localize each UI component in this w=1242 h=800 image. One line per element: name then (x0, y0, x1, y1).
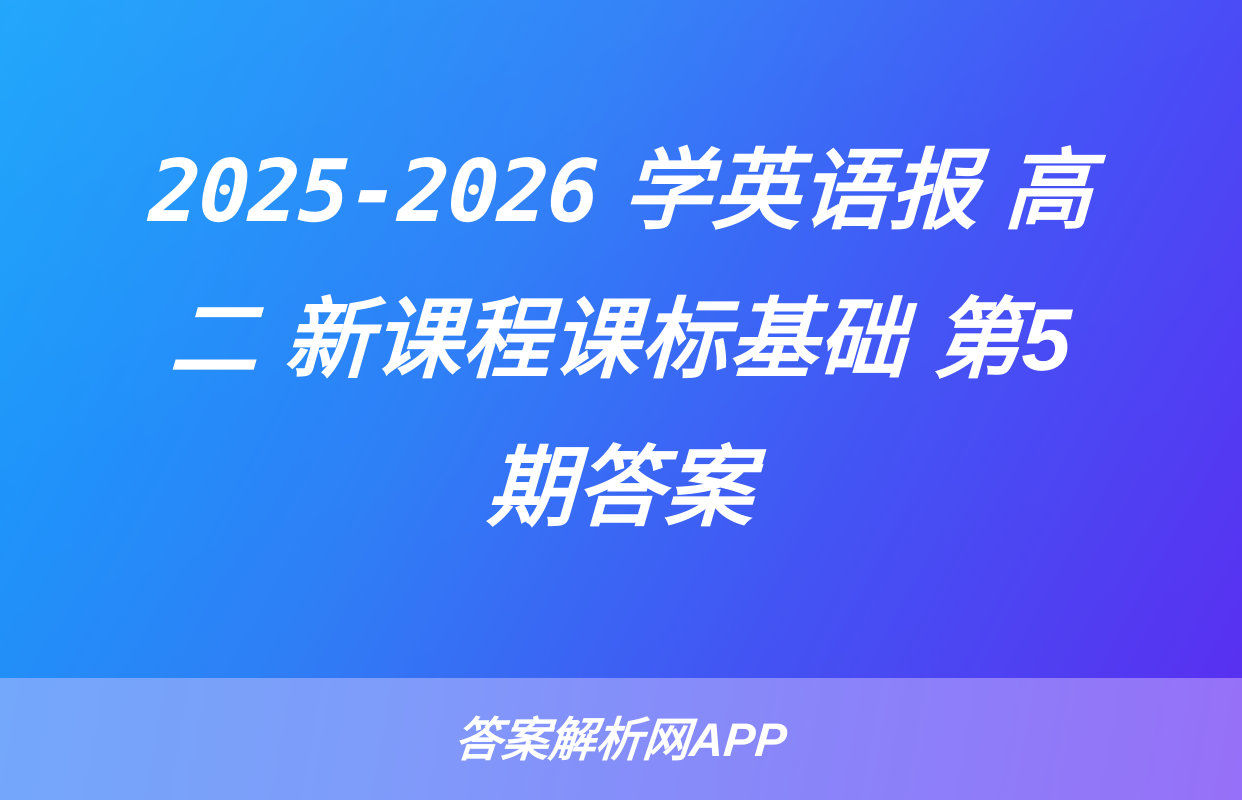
title-year-range: 2025-2026 (147, 142, 598, 242)
app-watermark-label: 答案解析网APP (453, 716, 789, 763)
page-title: 2025-2026学英语报 高 二 新课程课标基础 第5 期答案 (0, 0, 1242, 678)
title-line-1: 2025-2026学英语报 高 (146, 117, 1096, 266)
footer-watermark-band: 答案解析网APP (0, 678, 1242, 800)
cover-card: 2025-2026学英语报 高 二 新课程课标基础 第5 期答案 答案解析网AP… (0, 0, 1242, 800)
title-line-3: 期答案 (485, 414, 757, 562)
title-line-2: 二 新课程课标基础 第5 (167, 266, 1074, 414)
title-line-1-text: 学英语报 高 (621, 141, 1095, 240)
